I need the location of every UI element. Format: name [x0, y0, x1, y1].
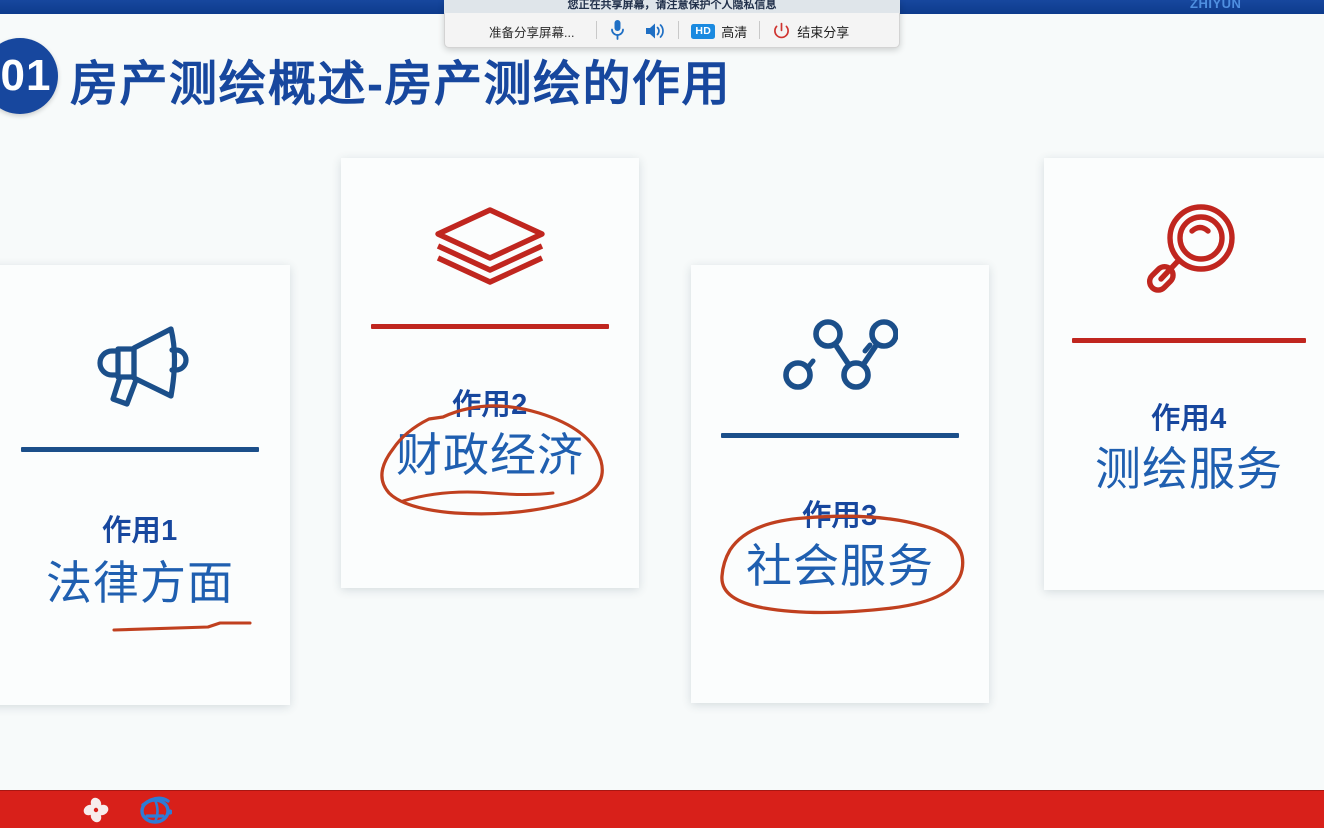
microphone-button[interactable]	[607, 19, 628, 41]
microphone-icon	[609, 19, 626, 41]
pinwheel-icon[interactable]	[82, 796, 110, 824]
feature-card-1[interactable]: 作用1 法律方面	[0, 265, 290, 705]
internet-explorer-icon[interactable]	[138, 795, 172, 825]
taskbar[interactable]	[0, 790, 1324, 828]
speaker-button[interactable]	[642, 21, 668, 41]
end-share-button[interactable]: 结束分享	[770, 22, 851, 41]
section-number-badge: 01	[0, 38, 58, 114]
card-label-2: 作用2	[452, 391, 528, 420]
magnifier-icon	[1137, 200, 1241, 300]
card-title-2: 财政经济	[396, 430, 584, 481]
share-status-label: 准备分享屏幕...	[459, 22, 586, 41]
card-divider-3	[721, 433, 959, 438]
feature-card-4[interactable]: 作用4 测绘服务	[1044, 158, 1324, 590]
layers-icon	[430, 204, 550, 286]
hd-badge: HD	[691, 24, 715, 38]
card-title-1: 法律方面	[46, 558, 234, 609]
hd-quality-button[interactable]: HD 高清	[689, 22, 749, 41]
feature-card-3[interactable]: 作用3 社会服务	[691, 265, 989, 703]
screen-root: ZHIYUN 您正在共享屏幕，请注意保护个人隐私信息 准备分享屏幕...	[0, 0, 1324, 828]
network-nodes-icon	[782, 317, 898, 393]
toolbar-divider-1	[596, 21, 597, 39]
card-title-3: 社会服务	[746, 541, 934, 592]
end-share-label: 结束分享	[797, 22, 849, 41]
page-title: 房产测绘概述-房产测绘的作用	[70, 44, 731, 114]
power-icon	[772, 22, 791, 41]
card-label-3: 作用3	[802, 502, 878, 531]
megaphone-icon	[88, 317, 192, 407]
share-notice-strip: 您正在共享屏幕，请注意保护个人隐私信息	[444, 0, 900, 13]
share-notice-text: 您正在共享屏幕，请注意保护个人隐私信息	[568, 0, 777, 12]
card-divider-2	[371, 324, 609, 329]
toolbar-divider-3	[759, 21, 760, 39]
card-divider-1	[21, 447, 259, 452]
section-number: 01	[0, 51, 51, 101]
card-label-4: 作用4	[1151, 405, 1227, 434]
toolbar-divider-2	[678, 21, 679, 39]
app-bar-title: ZHIYUN	[1190, 0, 1241, 11]
feature-card-2[interactable]: 作用2 财政经济	[341, 158, 639, 588]
card-divider-4	[1072, 338, 1306, 343]
speaker-icon	[644, 21, 666, 41]
hd-label: 高清	[721, 22, 747, 41]
card-label-1: 作用1	[102, 517, 178, 546]
card-title-4: 测绘服务	[1095, 444, 1283, 495]
